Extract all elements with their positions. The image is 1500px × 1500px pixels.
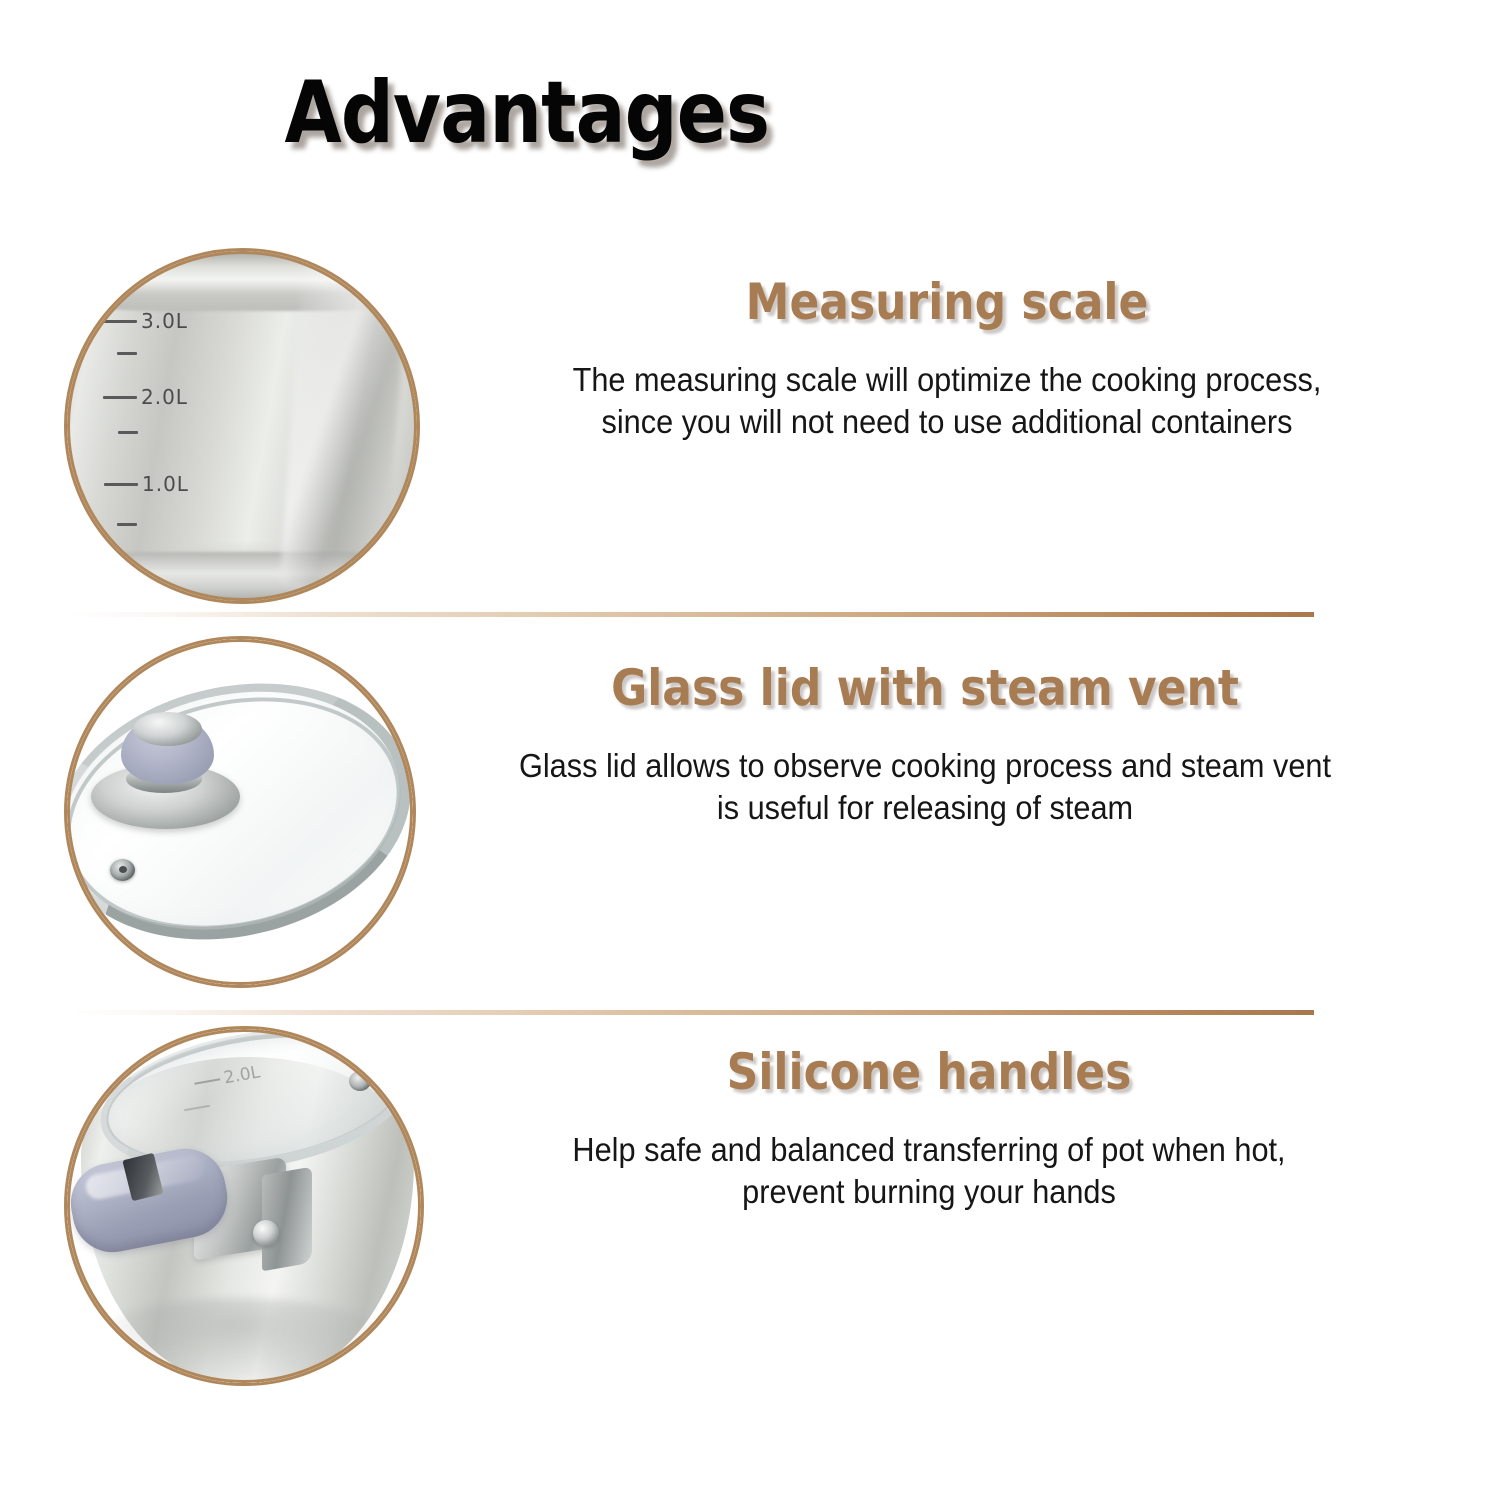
measure-tick bbox=[117, 352, 137, 355]
measure-tick bbox=[117, 523, 137, 526]
measure-mark-minor-1 bbox=[117, 352, 137, 355]
page-title: Advantages bbox=[285, 70, 770, 156]
media-silicone-handles: 2.0L bbox=[64, 1026, 424, 1386]
measure-mark-minor-3 bbox=[117, 523, 137, 526]
media-measuring-scale: 3.0L 2.0L 1.0L bbox=[64, 248, 420, 604]
glass-lid-photo bbox=[64, 636, 416, 988]
knob-steel-cap bbox=[133, 712, 202, 747]
section-body-silicone-handles: Help safe and balanced transferring of p… bbox=[524, 1129, 1333, 1215]
media-glass-lid bbox=[64, 636, 416, 988]
measure-tick bbox=[104, 483, 138, 486]
silicone-handle-photo: 2.0L bbox=[64, 1026, 424, 1386]
pot-with-handle-scene: 2.0L bbox=[67, 1029, 421, 1383]
pot-sheen-reflection bbox=[280, 262, 407, 591]
advantage-row-silicone-handles: 2.0L Silicone handles Help safe and bala… bbox=[0, 1026, 1500, 1396]
handle-rivet bbox=[253, 1220, 279, 1246]
text-col-measuring-scale: Measuring scale The measuring scale will… bbox=[420, 248, 1500, 444]
measure-mark-minor-2 bbox=[118, 431, 138, 434]
text-col-glass-lid: Glass lid with steam vent Glass lid allo… bbox=[416, 636, 1500, 830]
section-divider-1 bbox=[72, 612, 1314, 617]
measure-mark-3L: 3.0L bbox=[103, 309, 188, 333]
pot-base-shadow bbox=[88, 1298, 392, 1386]
measure-mark-2L: 2.0L bbox=[103, 385, 188, 409]
handle-bracket-secondary bbox=[262, 1166, 312, 1270]
measure-tick bbox=[103, 396, 137, 399]
section-body-measuring-scale: The measuring scale will optimize the co… bbox=[561, 359, 1333, 445]
measure-tick bbox=[118, 431, 138, 434]
section-title-measuring-scale: Measuring scale bbox=[557, 276, 1337, 329]
section-title-silicone-handles: Silicone handles bbox=[523, 1046, 1334, 1099]
section-title-glass-lid: Glass lid with steam vent bbox=[516, 662, 1334, 715]
section-divider-2 bbox=[72, 1010, 1314, 1015]
glass-lid-scene bbox=[67, 639, 413, 985]
advantage-row-measuring-scale: 3.0L 2.0L 1.0L Measuring scale The bbox=[0, 248, 1500, 598]
measure-tick bbox=[195, 1078, 221, 1084]
advantage-row-glass-lid: Glass lid with steam vent Glass lid allo… bbox=[0, 636, 1500, 986]
section-body-glass-lid: Glass lid allows to observe cooking proc… bbox=[516, 745, 1334, 831]
pot-interior-measuring-scale-photo: 3.0L 2.0L 1.0L bbox=[64, 248, 420, 604]
measure-mark-1L: 1.0L bbox=[104, 472, 189, 496]
text-col-silicone-handles: Silicone handles Help safe and balanced … bbox=[424, 1026, 1500, 1214]
steam-vent-hole bbox=[110, 859, 135, 881]
header-banner: Advantages bbox=[72, 42, 982, 184]
measure-tick bbox=[103, 320, 137, 323]
